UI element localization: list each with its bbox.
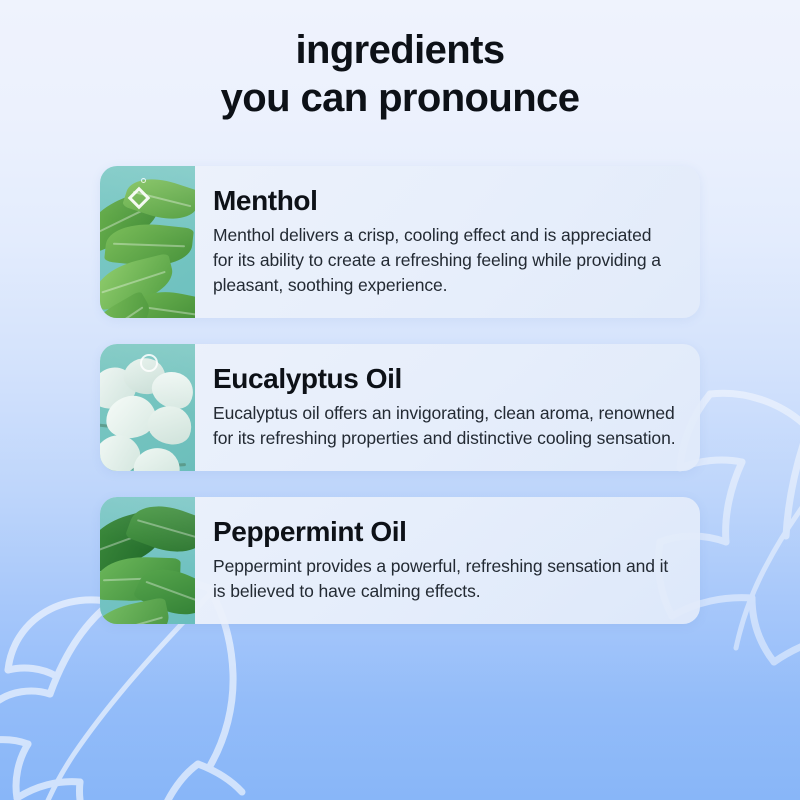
ingredient-card[interactable]: Menthol Menthol delivers a crisp, coolin… [100, 166, 700, 318]
dot-glyph-icon [141, 178, 146, 183]
ingredient-card[interactable]: Peppermint Oil Peppermint provides a pow… [100, 497, 700, 624]
ingredient-description: Eucalyptus oil offers an invigorating, c… [213, 401, 676, 451]
ingredient-title: Menthol [213, 184, 676, 218]
ingredient-description: Menthol delivers a crisp, cooling effect… [213, 223, 676, 298]
ingredient-card-body: Peppermint Oil Peppermint provides a pow… [195, 497, 700, 624]
page-title-line-2: you can pronounce [0, 74, 800, 122]
peppermint-leaves-photo [100, 497, 195, 624]
ingredient-thumbnail [100, 344, 195, 471]
ingredient-title: Eucalyptus Oil [213, 362, 676, 396]
ingredient-thumbnail [100, 166, 195, 318]
page-title-line-1: ingredients [0, 26, 800, 74]
page-title: ingredients you can pronounce [0, 26, 800, 122]
ingredient-card-body: Eucalyptus Oil Eucalyptus oil offers an … [195, 344, 700, 471]
eucalyptus-leaves-photo [100, 344, 195, 471]
ingredient-card-body: Menthol Menthol delivers a crisp, coolin… [195, 166, 700, 318]
ingredient-thumbnail [100, 497, 195, 624]
ring-glyph-icon-top [140, 354, 158, 372]
ingredient-description: Peppermint provides a powerful, refreshi… [213, 554, 676, 604]
mint-leaves-photo [100, 166, 195, 318]
ingredient-card[interactable]: Eucalyptus Oil Eucalyptus oil offers an … [100, 344, 700, 471]
ingredients-panel: ingredients you can pronounce [0, 0, 800, 800]
ingredient-title: Peppermint Oil [213, 515, 676, 549]
ingredient-card-list: Menthol Menthol delivers a crisp, coolin… [100, 166, 700, 624]
